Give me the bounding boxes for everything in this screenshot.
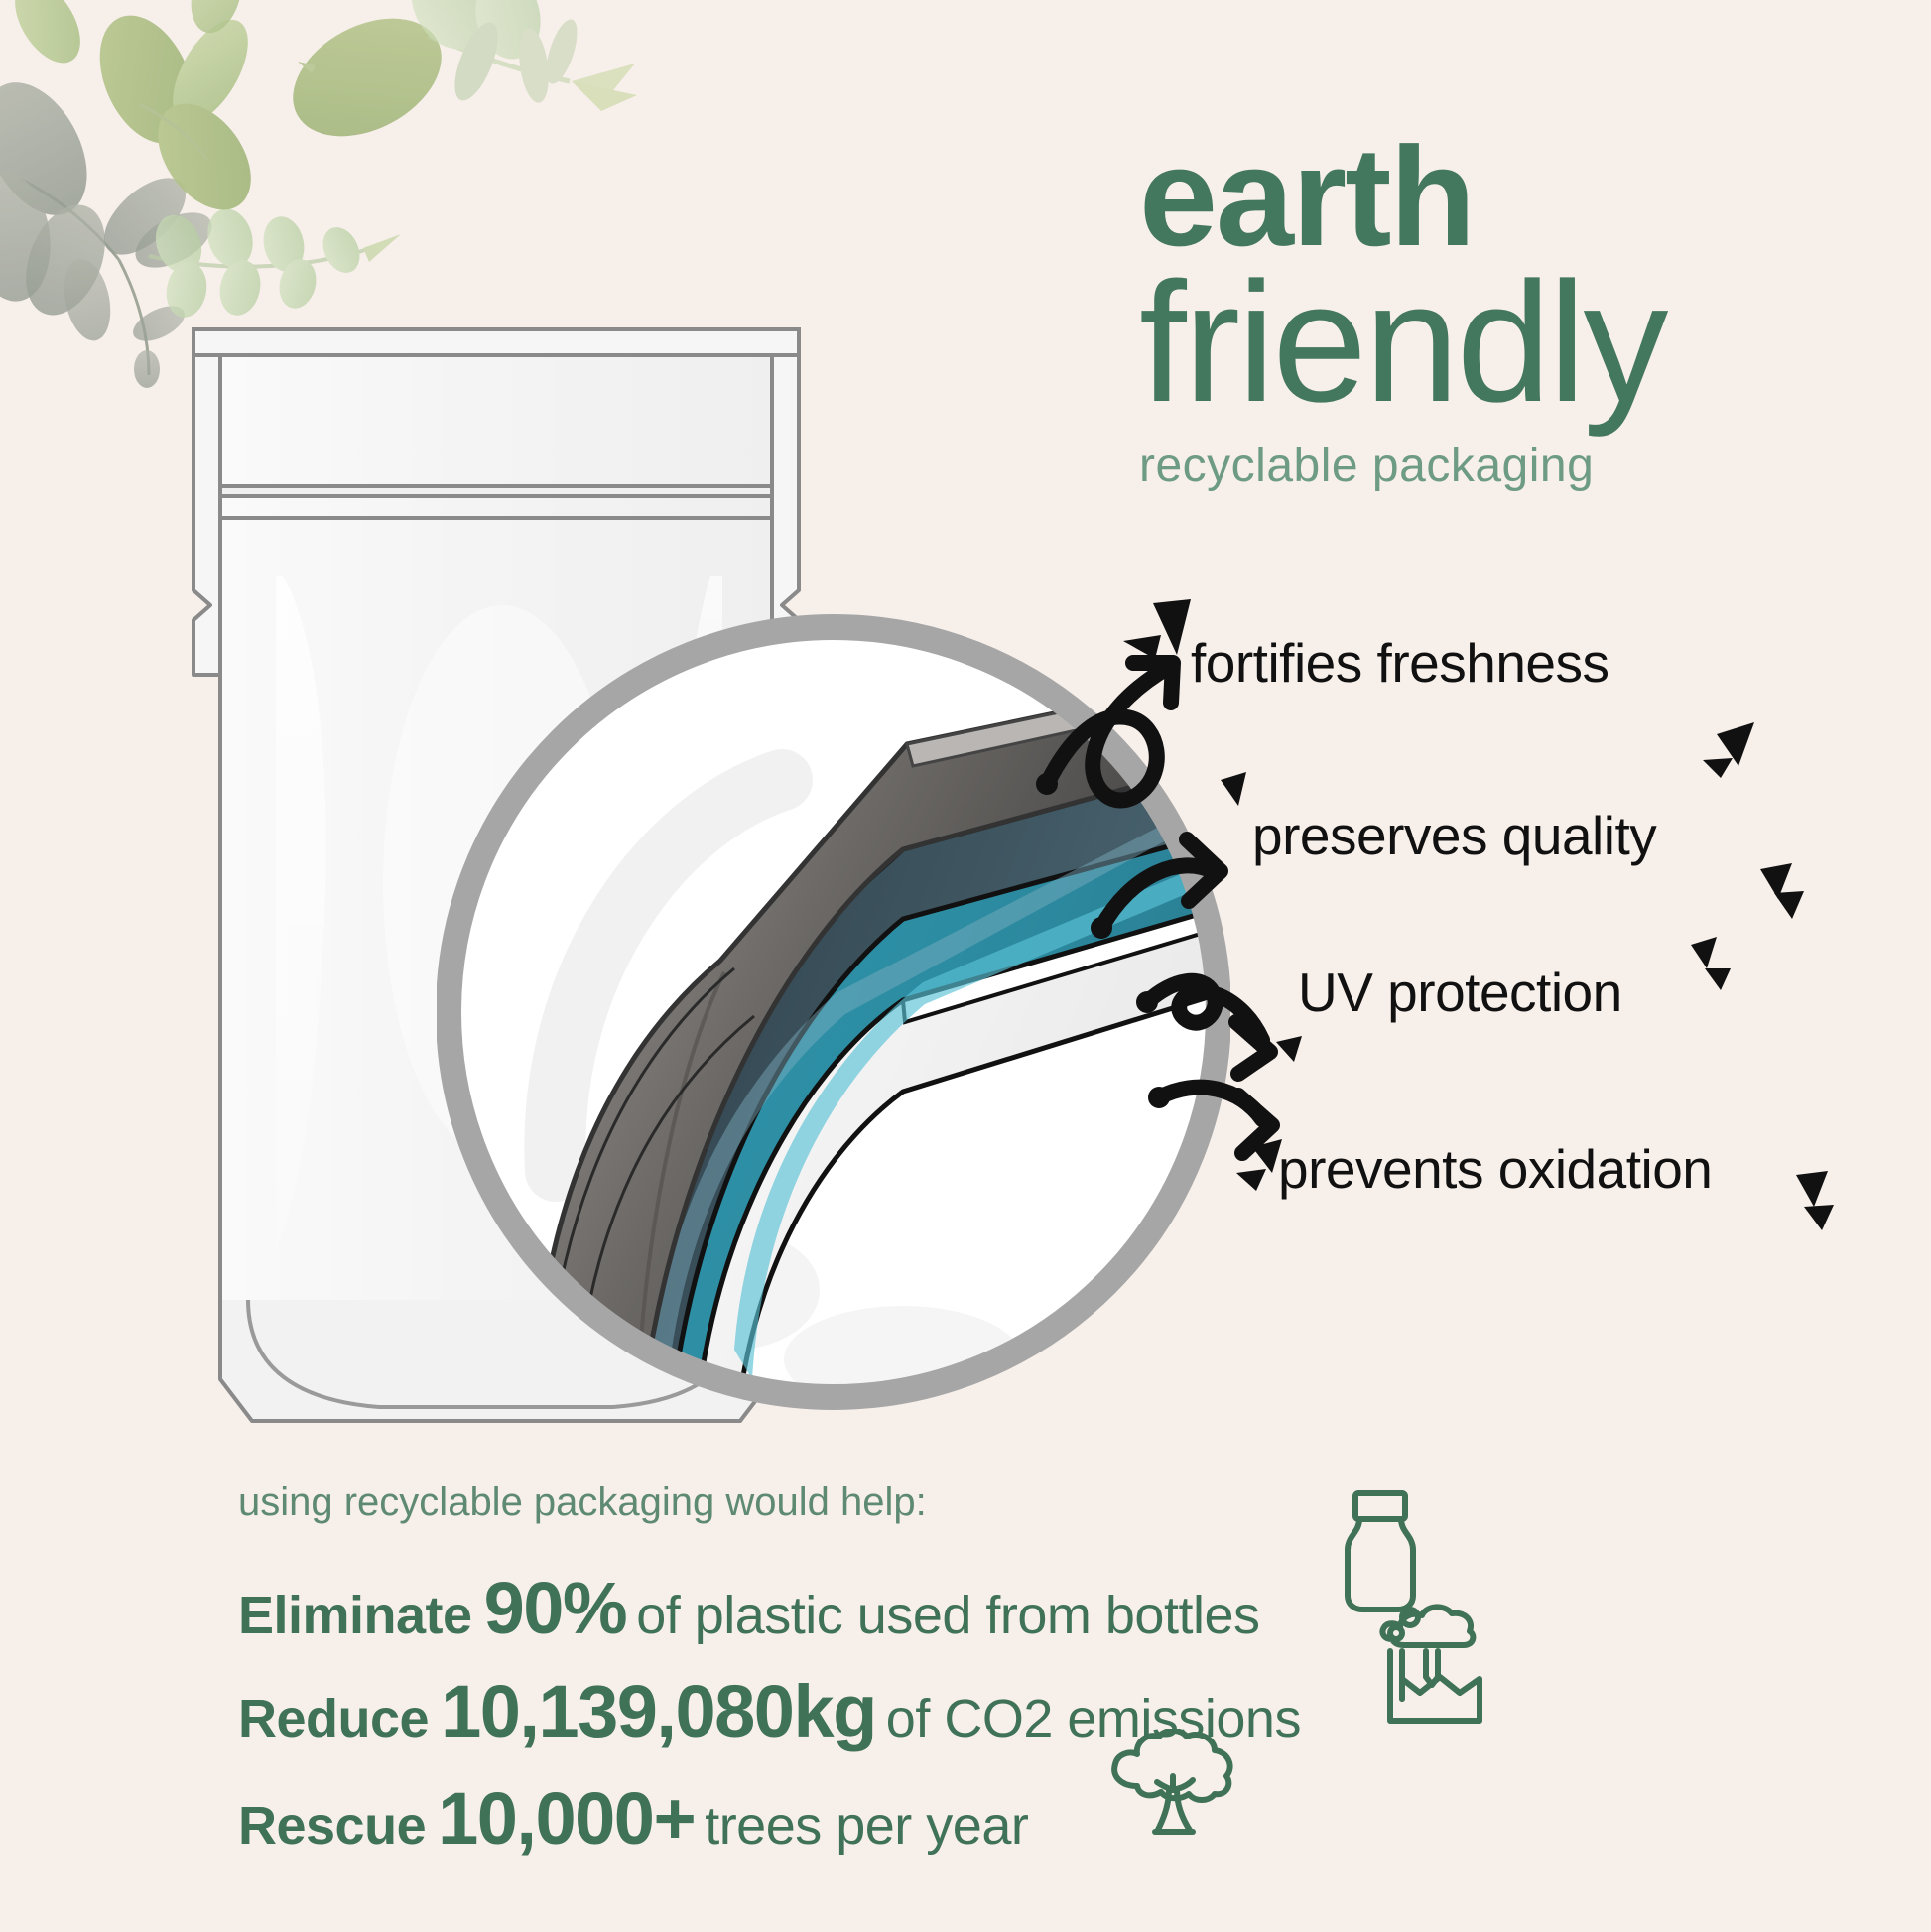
stat-verb: Rescue bbox=[238, 1796, 426, 1856]
stat-value: 10,000+ bbox=[438, 1777, 695, 1860]
stat-value: 10,139,080kg bbox=[441, 1670, 876, 1752]
stat-verb: Reduce bbox=[238, 1689, 429, 1748]
stat-row-eliminate: Eliminate90%of plastic used from bottles bbox=[238, 1566, 1260, 1650]
feature-label-fortifies-freshness: fortifies freshness bbox=[1191, 631, 1609, 695]
factory-smokestack-icon bbox=[1374, 1602, 1485, 1727]
feature-label-uv-protection: UV protection bbox=[1298, 961, 1622, 1024]
stats-intro-text: using recyclable packaging would help: bbox=[238, 1481, 927, 1525]
headline-block: earth friendly recyclable packaging bbox=[1139, 137, 1923, 493]
stat-row-rescue: Rescue10,000+trees per year bbox=[238, 1776, 1028, 1861]
magnifier-circle-icon bbox=[437, 556, 1230, 1479]
bottle-icon bbox=[1338, 1488, 1423, 1615]
headline-subtitle: recyclable packaging bbox=[1139, 439, 1923, 493]
headline-line-2: friendly bbox=[1139, 264, 1923, 421]
feature-label-prevents-oxidation: prevents oxidation bbox=[1278, 1137, 1712, 1201]
poster-canvas: earth friendly recyclable packaging bbox=[0, 0, 1931, 1932]
stat-value: 90% bbox=[484, 1567, 627, 1649]
stat-tail: trees per year bbox=[705, 1796, 1028, 1856]
tree-icon bbox=[1099, 1729, 1246, 1846]
stat-tail: of plastic used from bottles bbox=[636, 1586, 1259, 1645]
headline-line-1: earth bbox=[1139, 137, 1923, 258]
stat-verb: Eliminate bbox=[238, 1586, 472, 1645]
feature-label-preserves-quality: preserves quality bbox=[1252, 804, 1656, 867]
